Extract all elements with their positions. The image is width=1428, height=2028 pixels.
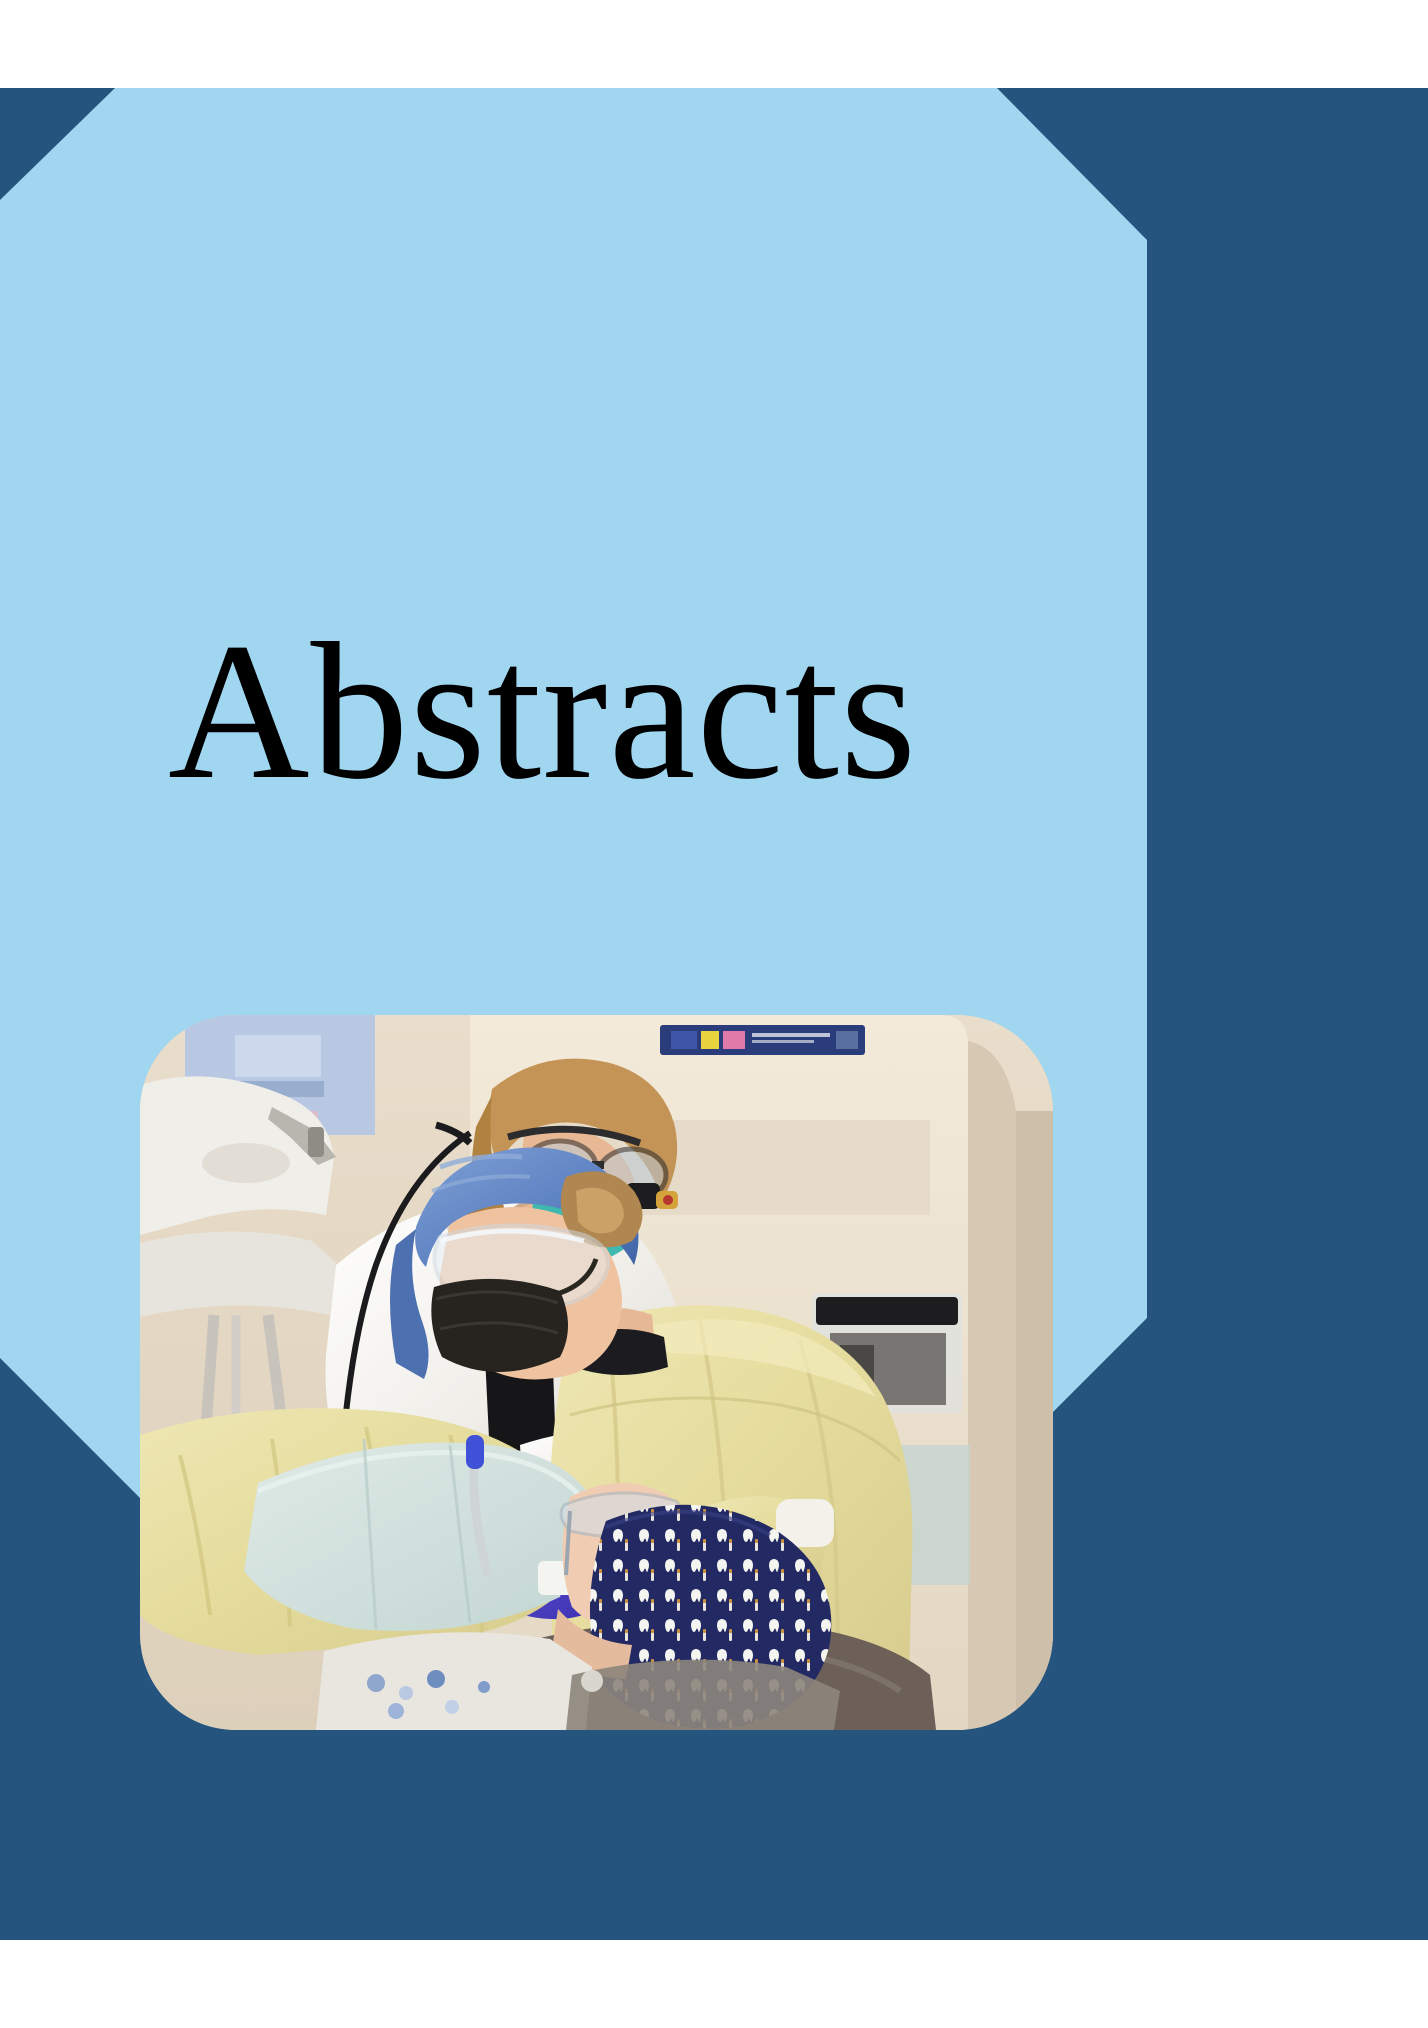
clinic-photo [140, 1015, 1053, 1730]
clinic-photo-image [140, 1015, 1053, 1730]
page-title: Abstracts [168, 612, 1068, 812]
slide-page: Abstracts [0, 0, 1428, 2028]
